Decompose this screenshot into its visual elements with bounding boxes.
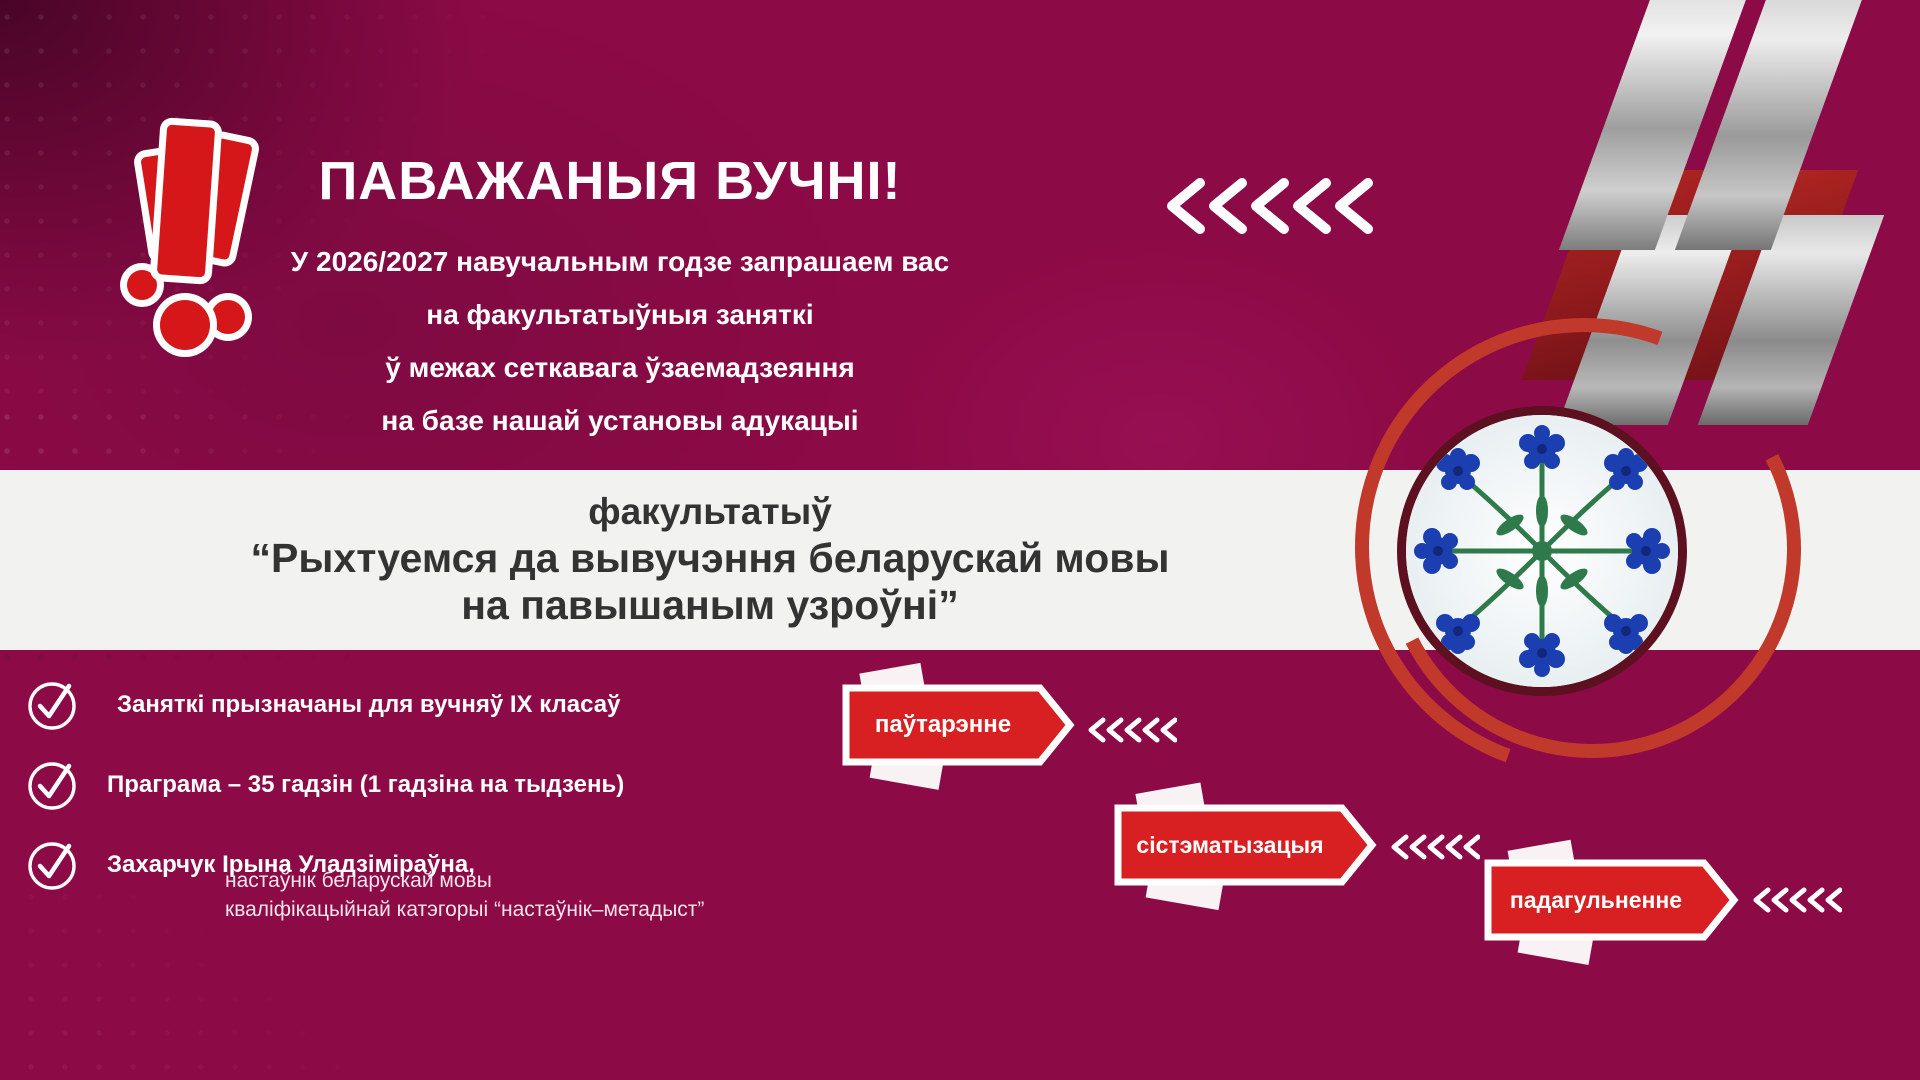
intro-paragraph: У 2026/2027 навучальным годзе запрашаем … xyxy=(250,235,990,447)
badge-sistematyzacyja: сістэматызацыя xyxy=(1110,800,1380,890)
exclamation-dot-right xyxy=(211,300,245,334)
chevron-left-icon xyxy=(1160,175,1380,237)
cornflower-illustration xyxy=(1406,415,1678,687)
intro-line-3: ў межах сеткавага ўзаемадзеяння xyxy=(250,341,990,394)
check-circle-icon xyxy=(25,758,79,812)
intro-line-2: на факультатыўныя заняткі xyxy=(250,288,990,341)
exclamation-dot-left xyxy=(127,270,157,300)
list-item-label: Заняткі прызначаны для вучняў IX класаў xyxy=(93,678,620,732)
photo-ring xyxy=(1397,406,1687,696)
check-circle-icon xyxy=(25,678,79,732)
chevron-group-badge-1 xyxy=(1085,715,1177,745)
chevron-group-header xyxy=(1160,175,1380,237)
chevron-group-badge-3 xyxy=(1750,885,1842,915)
chevron-left-icon xyxy=(1085,715,1177,745)
page-title: ПАВАЖАНЫЯ ВУЧНІ! xyxy=(260,150,960,212)
badge-pautarenne: паўтарэнне xyxy=(838,680,1078,770)
band-title-line-1: “Рыхтуемся да вывучэння беларускай мовы xyxy=(0,535,1420,582)
teacher-note-line-1: настаўнік беларускай мовы xyxy=(225,866,704,895)
check-circle-icon xyxy=(25,838,79,892)
badge-label: падагульненне xyxy=(1480,855,1712,945)
badge-label: паўтарэнне xyxy=(838,680,1048,770)
chevron-left-icon xyxy=(1750,885,1842,915)
intro-line-1: У 2026/2027 навучальным годзе запрашаем … xyxy=(250,235,990,288)
badge-padagulnenne: падагульненне xyxy=(1480,855,1742,945)
badge-label: сістэматызацыя xyxy=(1110,800,1350,890)
band-kicker: факультатыў xyxy=(0,488,1420,535)
list-item: Заняткі прызначаны для вучняў IX класаў xyxy=(25,678,885,732)
list-item: Праграма – 35 гадзін (1 гадзіна на тыдзе… xyxy=(25,758,885,812)
list-item-label: Праграма – 35 гадзін (1 гадзіна на тыдзе… xyxy=(93,758,624,812)
band-title-line-2: на павышаным узроўні” xyxy=(0,582,1420,629)
poster-root: ПАВАЖАНЫЯ ВУЧНІ! У 2026/2027 навучальным… xyxy=(0,0,1920,1080)
chevron-group-badge-2 xyxy=(1388,832,1480,862)
chevron-left-icon xyxy=(1388,832,1480,862)
teacher-note-line-2: кваліфікацыйнай катэгорыі “настаўнік–мет… xyxy=(225,895,704,924)
teacher-qualification-note: настаўнік беларускай мовы кваліфікацыйна… xyxy=(225,866,704,924)
cornflower-photo xyxy=(1397,406,1687,696)
exclamation-dot-main xyxy=(160,300,210,350)
band-title-block: факультатыў “Рыхтуемся да вывучэння бела… xyxy=(0,488,1420,629)
intro-line-4: на базе нашай установы адукацыі xyxy=(250,394,990,447)
